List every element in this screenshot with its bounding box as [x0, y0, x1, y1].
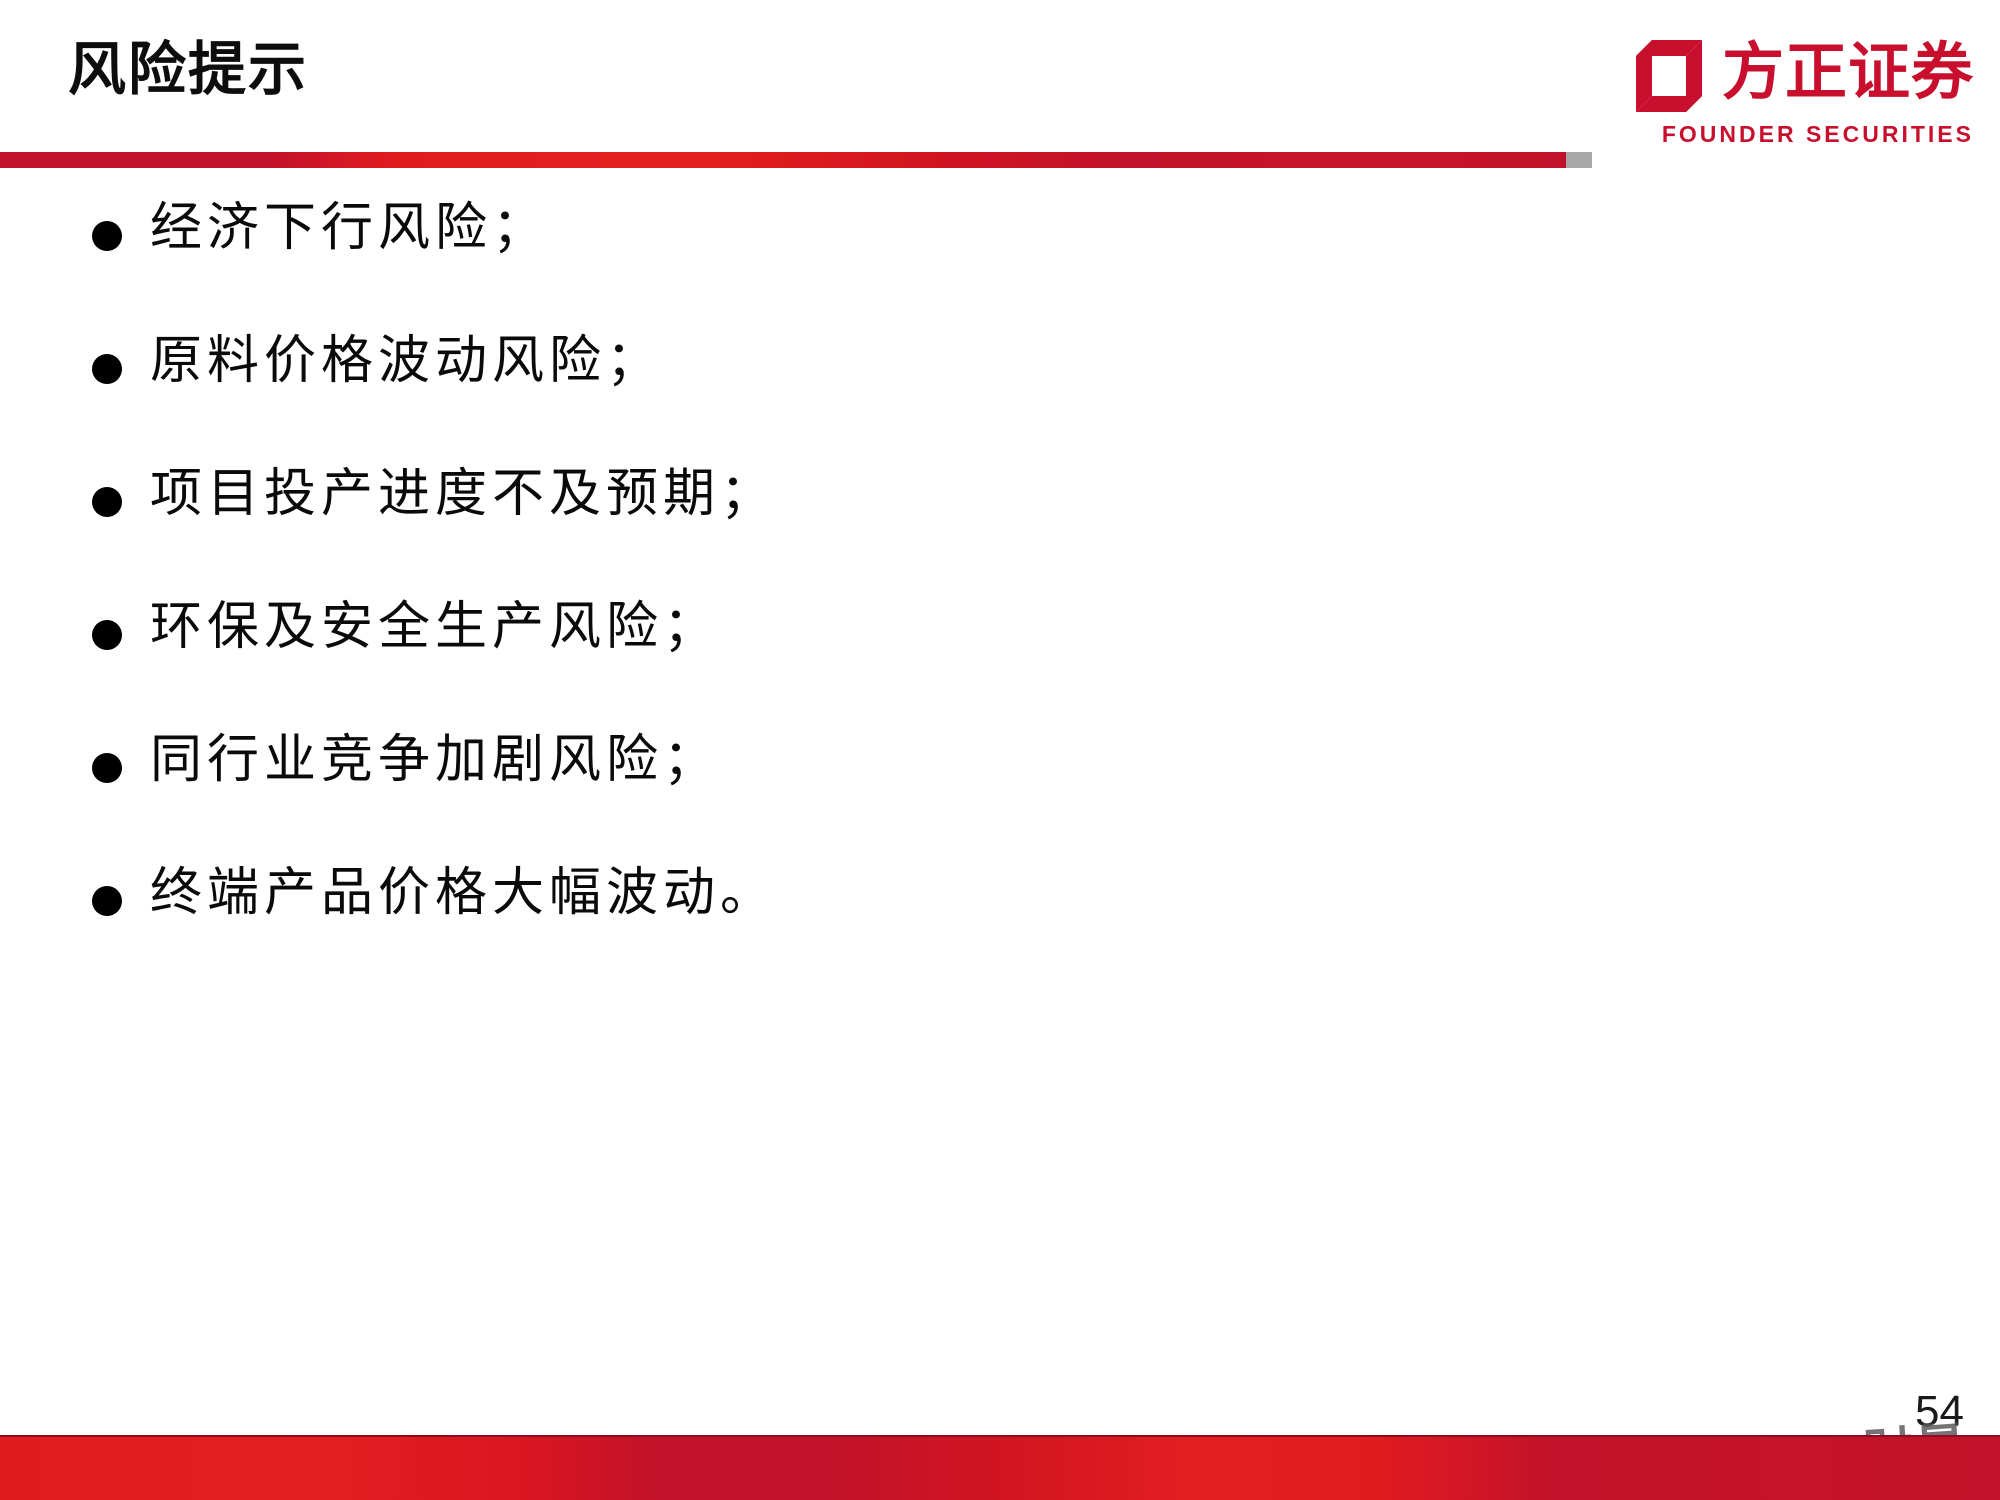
list-item: 经济下行风险； — [0, 195, 2000, 328]
footer-band — [0, 1435, 2000, 1500]
slide-content: 经济下行风险； 原料价格波动风险； 项目投产进度不及预期； 环保及安全生产风险；… — [0, 195, 2000, 993]
bullet-dot-icon — [92, 886, 122, 916]
bullet-text: 项目投产进度不及预期； — [150, 461, 777, 529]
risk-bullet-list: 经济下行风险； 原料价格波动风险； 项目投产进度不及预期； 环保及安全生产风险；… — [0, 195, 2000, 993]
title-underline-cap — [1566, 152, 1592, 168]
page-number: 54 — [1915, 1390, 1964, 1434]
bullet-text: 经济下行风险； — [150, 195, 549, 263]
logo-primary-row: 方正证券 — [1630, 34, 1974, 112]
list-item: 终端产品价格大幅波动。 — [0, 860, 2000, 993]
bullet-dot-icon — [92, 620, 122, 650]
page-title: 风险提示 — [68, 38, 308, 102]
bullet-dot-icon — [92, 753, 122, 783]
slide-root: 风险提示 方正证券 FOUNDER SECURITIES — [0, 0, 2000, 1500]
bullet-text: 环保及安全生产风险； — [150, 594, 720, 662]
slide-header: 风险提示 方正证券 FOUNDER SECURITIES — [0, 0, 2000, 170]
logo-chinese-name: 方正证券 — [1722, 42, 1974, 104]
bullet-text: 原料价格波动风险； — [150, 328, 663, 396]
logo-english-name: FOUNDER SECURITIES — [1662, 121, 1974, 148]
list-item: 同行业竞争加剧风险； — [0, 727, 2000, 860]
title-underline-rule — [0, 152, 1566, 168]
bullet-dot-icon — [92, 221, 122, 251]
bullet-dot-icon — [92, 487, 122, 517]
list-item: 原料价格波动风险； — [0, 328, 2000, 461]
founder-square-mark-icon — [1630, 34, 1708, 112]
bullet-text: 同行业竞争加剧风险； — [150, 727, 720, 795]
list-item: 项目投产进度不及预期； — [0, 461, 2000, 594]
list-item: 环保及安全生产风险； — [0, 594, 2000, 727]
company-logo: 方正证券 FOUNDER SECURITIES — [1630, 34, 1974, 148]
bullet-dot-icon — [92, 354, 122, 384]
bullet-text: 终端产品价格大幅波动。 — [150, 860, 777, 928]
